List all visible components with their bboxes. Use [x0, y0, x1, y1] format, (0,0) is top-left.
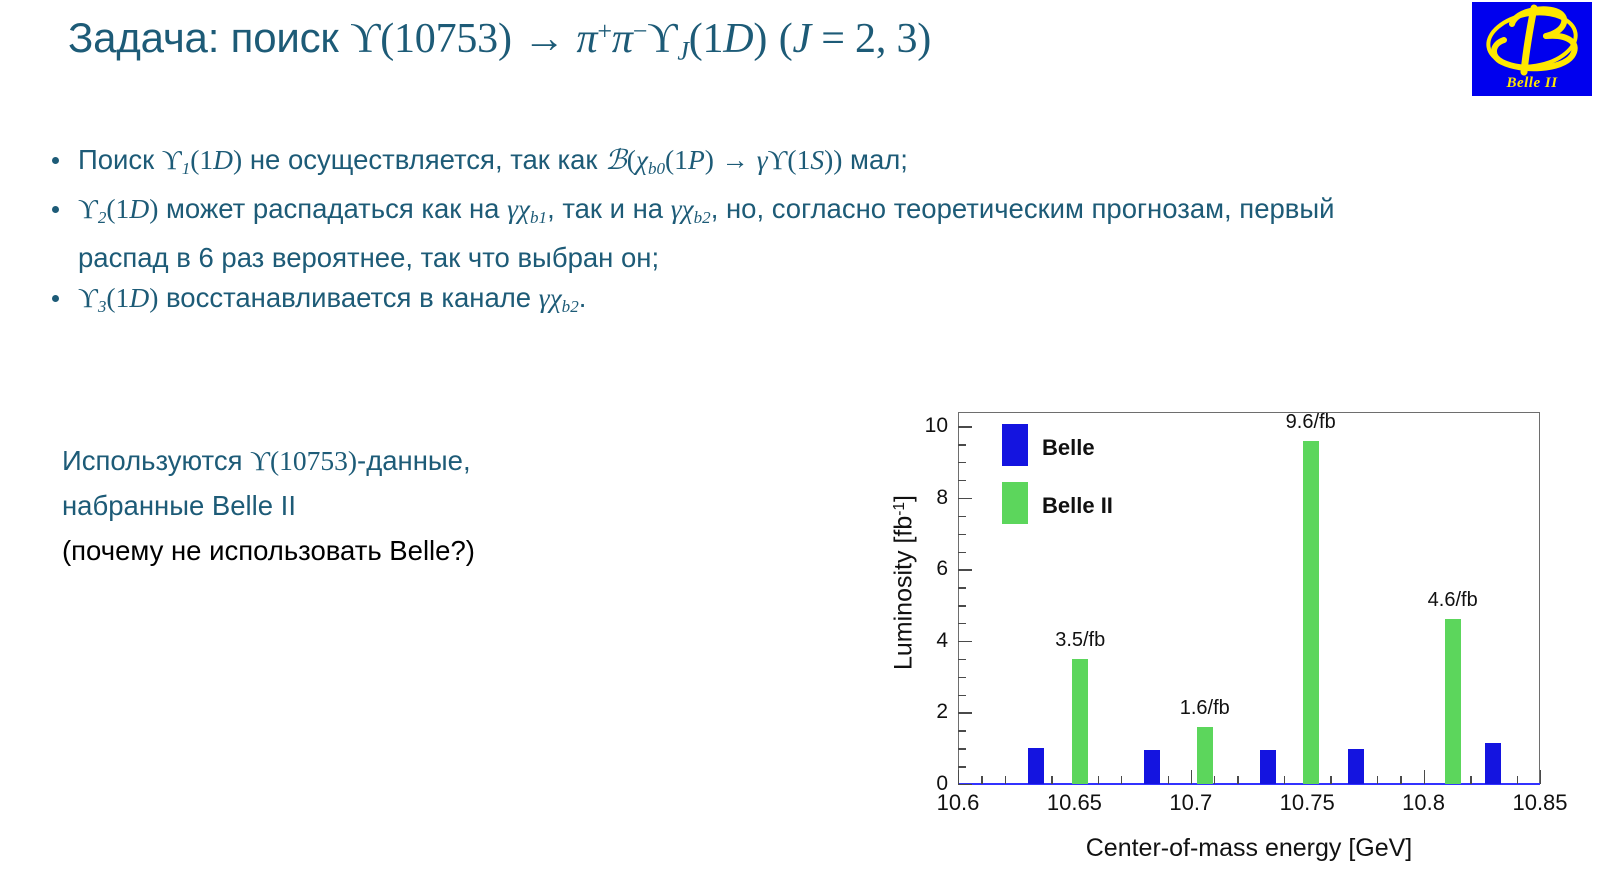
y-tick-minor [958, 480, 966, 481]
usage-note-line3: (почему не использовать Belle?) [62, 528, 475, 573]
y-tick-label: 6 [914, 557, 948, 581]
bar-value-label: 3.5/fb [1055, 629, 1105, 652]
bar-belle2 [1303, 441, 1319, 784]
x-tick-minor [1098, 776, 1099, 784]
x-tick-minor [1214, 776, 1215, 784]
slide-root: Задача: поиск ϒ(10753) → π+π−ϒJ(1D) (J =… [0, 0, 1597, 894]
y-tick-minor [958, 444, 966, 445]
legend-swatch-belle-ii [1002, 482, 1028, 524]
x-tick-minor [1377, 776, 1378, 784]
legend-label-belle: Belle [1042, 435, 1095, 461]
usage-note: Используются ϒ(10753)-данные, набранные … [62, 438, 475, 573]
y-tick-major [958, 712, 972, 713]
page-title: Задача: поиск ϒ(10753) → π+π−ϒJ(1D) (J =… [68, 14, 931, 66]
bar-belle2 [1445, 619, 1461, 784]
list-item: ϒ2(1D) может распадаться как на γχb1, та… [26, 189, 1366, 278]
x-tick-minor [1168, 776, 1169, 784]
x-tick-major [958, 770, 959, 784]
x-tick-label: 10.8 [1402, 790, 1445, 816]
bullet-dot-icon [52, 157, 59, 164]
y-tick-minor [958, 730, 966, 731]
bullet-dot-icon [52, 206, 59, 213]
y-axis-title-base: Luminosity [fb [890, 516, 918, 670]
x-tick-minor [1237, 776, 1238, 784]
bar-belle2 [1197, 727, 1213, 784]
y-tick-label: 10 [914, 414, 948, 438]
y-tick-label: 8 [914, 486, 948, 510]
bullet-dot-icon [52, 295, 59, 302]
bullet-list: Поиск ϒ1(1D) не осуществляется, так как … [26, 140, 1366, 326]
y-axis-title-close: ] [890, 495, 918, 502]
y-tick-minor [958, 534, 966, 535]
y-tick-label: 4 [914, 629, 948, 653]
y-tick-major [958, 784, 972, 785]
y-axis-title: Luminosity [fb-1] [890, 433, 919, 733]
x-tick-major [1540, 770, 1541, 784]
y-tick-major [958, 498, 972, 499]
x-tick-minor [1400, 776, 1401, 784]
x-tick-minor [981, 776, 982, 784]
bar-belle [1144, 750, 1160, 784]
y-tick-label: 2 [914, 700, 948, 724]
usage-note-line2: набранные Belle II [62, 483, 475, 528]
bar-belle [1028, 748, 1044, 784]
y-tick-minor [958, 462, 966, 463]
bar-belle [1485, 743, 1501, 784]
x-tick-label: 10.7 [1169, 790, 1212, 816]
legend-swatch-belle [1002, 424, 1028, 466]
y-tick-major [958, 569, 972, 570]
y-tick-major [958, 641, 972, 642]
belle-b-icon [1472, 2, 1592, 84]
x-tick-minor [1121, 776, 1122, 784]
y-tick-minor [958, 695, 966, 696]
x-tick-minor [1517, 776, 1518, 784]
bar-value-label: 9.6/fb [1286, 411, 1336, 434]
usage-note-line1: Используются ϒ(10753)-данные, [62, 438, 475, 483]
y-tick-minor [958, 623, 966, 624]
y-tick-minor [958, 677, 966, 678]
list-item: ϒ3(1D) восстанавливается в канале γχb2. [26, 278, 1366, 327]
y-axis-title-exponent: -1 [891, 502, 908, 516]
x-axis-title: Center-of-mass energy [GeV] [958, 834, 1540, 863]
legend-label-belle-ii: Belle II [1042, 493, 1113, 519]
bar-belle2 [1072, 659, 1088, 784]
bar-belle [1260, 750, 1276, 784]
luminosity-chart: 024681010.610.6510.710.7510.810.85 3.5/f… [862, 372, 1584, 872]
y-tick-minor [958, 552, 966, 553]
x-tick-label: 10.75 [1280, 790, 1335, 816]
x-tick-minor [1284, 776, 1285, 784]
y-tick-minor [958, 605, 966, 606]
y-tick-minor [958, 766, 966, 767]
x-tick-major [1191, 770, 1192, 784]
x-tick-label: 10.65 [1047, 790, 1102, 816]
list-item: Поиск ϒ1(1D) не осуществляется, так как … [26, 140, 1366, 189]
bar-value-label: 1.6/fb [1180, 697, 1230, 720]
y-tick-minor [958, 659, 966, 660]
y-tick-minor [958, 587, 966, 588]
bar-value-label: 4.6/fb [1428, 589, 1478, 612]
y-tick-minor [958, 516, 966, 517]
x-tick-minor [1330, 776, 1331, 784]
y-tick-minor [958, 748, 966, 749]
x-tick-minor [1005, 776, 1006, 784]
x-tick-label: 10.6 [937, 790, 980, 816]
x-tick-minor [1470, 776, 1471, 784]
x-tick-major [1424, 770, 1425, 784]
belle-ii-logo: Belle II [1472, 2, 1592, 96]
x-tick-label: 10.85 [1512, 790, 1567, 816]
bar-belle [1348, 749, 1364, 784]
y-tick-major [958, 426, 972, 427]
logo-caption: Belle II [1472, 75, 1592, 92]
x-tick-minor [1051, 776, 1052, 784]
